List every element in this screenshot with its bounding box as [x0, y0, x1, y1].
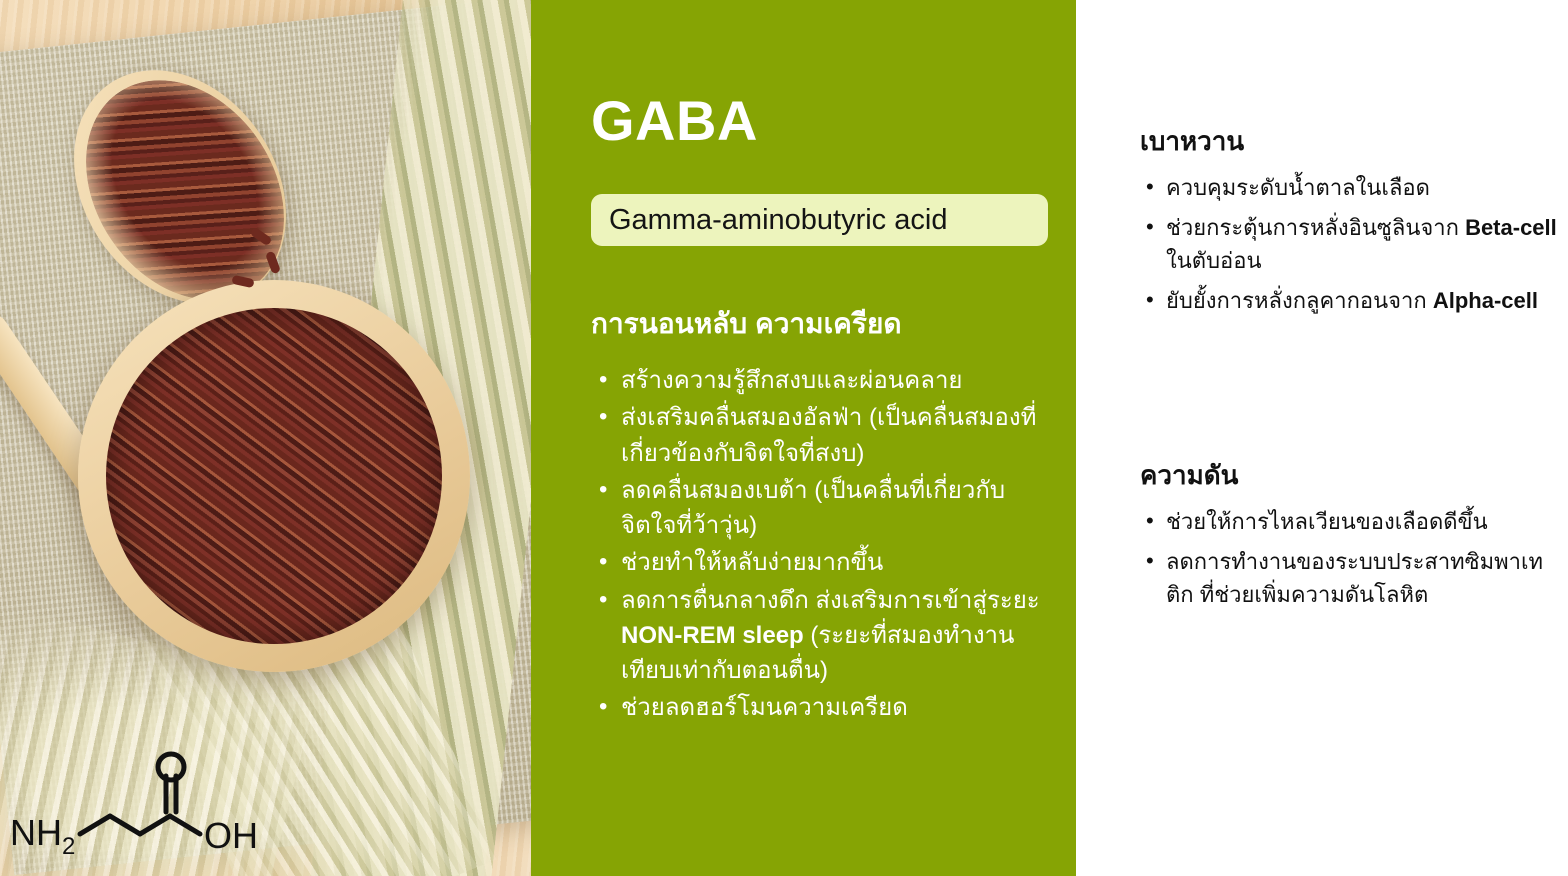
right-bullet-list: ควบคุมระดับน้ำตาลในเลือดช่วยกระตุ้นการหล… — [1140, 171, 1560, 317]
badge-label: Gamma-aminobutyric acid — [591, 206, 947, 235]
green-bullet-list: สร้างความรู้สึกสงบและผ่อนคลายส่งเสริมคลื… — [591, 363, 1041, 728]
gaba-chemical-structure-icon: NH 2 OH — [6, 750, 282, 860]
bowl-rice-grains — [106, 308, 442, 644]
list-item: ช่วยลดฮอร์โมนความเครียด — [621, 690, 1041, 725]
right-section-diabetes: เบาหวาน ควบคุมระดับน้ำตาลในเลือดช่วยกระต… — [1140, 126, 1560, 324]
list-item: ลดคลื่นสมองเบต้า (เป็นคลื่นที่เกี่ยวกับจ… — [621, 473, 1041, 544]
list-item: สร้างความรู้สึกสงบและผ่อนคลาย — [621, 363, 1041, 398]
list-item: ช่วยกระตุ้นการหลั่งอินซูลินจาก Beta-cell… — [1166, 211, 1560, 277]
list-item-text: ลดการตื่นกลางดึก ส่งเสริมการเข้าสู่ระยะ — [621, 587, 1040, 614]
right-section-heading: เบาหวาน — [1140, 126, 1560, 157]
list-item-emphasis: Alpha-cell — [1433, 288, 1538, 313]
right-section-blood-pressure: ความดัน ช่วยให้การไหลเวียนของเลือดดีขึ้น… — [1140, 460, 1560, 618]
list-item-emphasis: NON-REM sleep — [621, 622, 804, 649]
status-badge: Gamma-aminobutyric acid — [591, 194, 1048, 246]
svg-text:2: 2 — [62, 833, 75, 860]
right-section-heading: ความดัน — [1140, 460, 1560, 491]
right-bullet-list: ช่วยให้การไหลเวียนของเลือดดีขึ้นลดการทำง… — [1140, 505, 1560, 611]
green-info-panel: GABA Gamma-aminobutyric acid การนอนหลับ … — [531, 0, 1076, 876]
slide-root: NH 2 OH GABA Gamma-aminobutyric acid การ… — [0, 0, 1568, 876]
list-item-emphasis: Beta-cell — [1465, 215, 1557, 240]
right-info-column: เบาหวาน ควบคุมระดับน้ำตาลในเลือดช่วยกระต… — [1076, 0, 1568, 876]
svg-text:OH: OH — [204, 815, 258, 856]
list-item-text: ในตับอ่อน — [1166, 248, 1262, 273]
list-item: ช่วยให้การไหลเวียนของเลือดดีขึ้น — [1166, 505, 1560, 538]
list-item: ส่งเสริมคลื่นสมองอัลฟ่า (เป็นคลื่นสมองที… — [621, 400, 1041, 471]
green-section-heading: การนอนหลับ ความเครียด — [591, 307, 902, 341]
list-item-text: ช่วยกระตุ้นการหลั่งอินซูลินจาก — [1166, 215, 1465, 240]
page-title: GABA — [591, 93, 758, 149]
rice-photo: NH 2 OH — [0, 0, 531, 876]
list-item: ยับยั้งการหลั่งกลูคากอนจาก Alpha-cell — [1166, 284, 1560, 317]
wooden-bowl — [78, 280, 470, 672]
svg-text:NH: NH — [10, 812, 62, 853]
list-item: ลดการทำงานของระบบประสาทซิมพาเทติก ที่ช่ว… — [1166, 545, 1560, 611]
list-item-text: ยับยั้งการหลั่งกลูคากอนจาก — [1166, 288, 1433, 313]
list-item: ลดการตื่นกลางดึก ส่งเสริมการเข้าสู่ระยะ … — [621, 583, 1041, 689]
list-item: ช่วยทำให้หลับง่ายมากขึ้น — [621, 545, 1041, 580]
list-item: ควบคุมระดับน้ำตาลในเลือด — [1166, 171, 1560, 204]
